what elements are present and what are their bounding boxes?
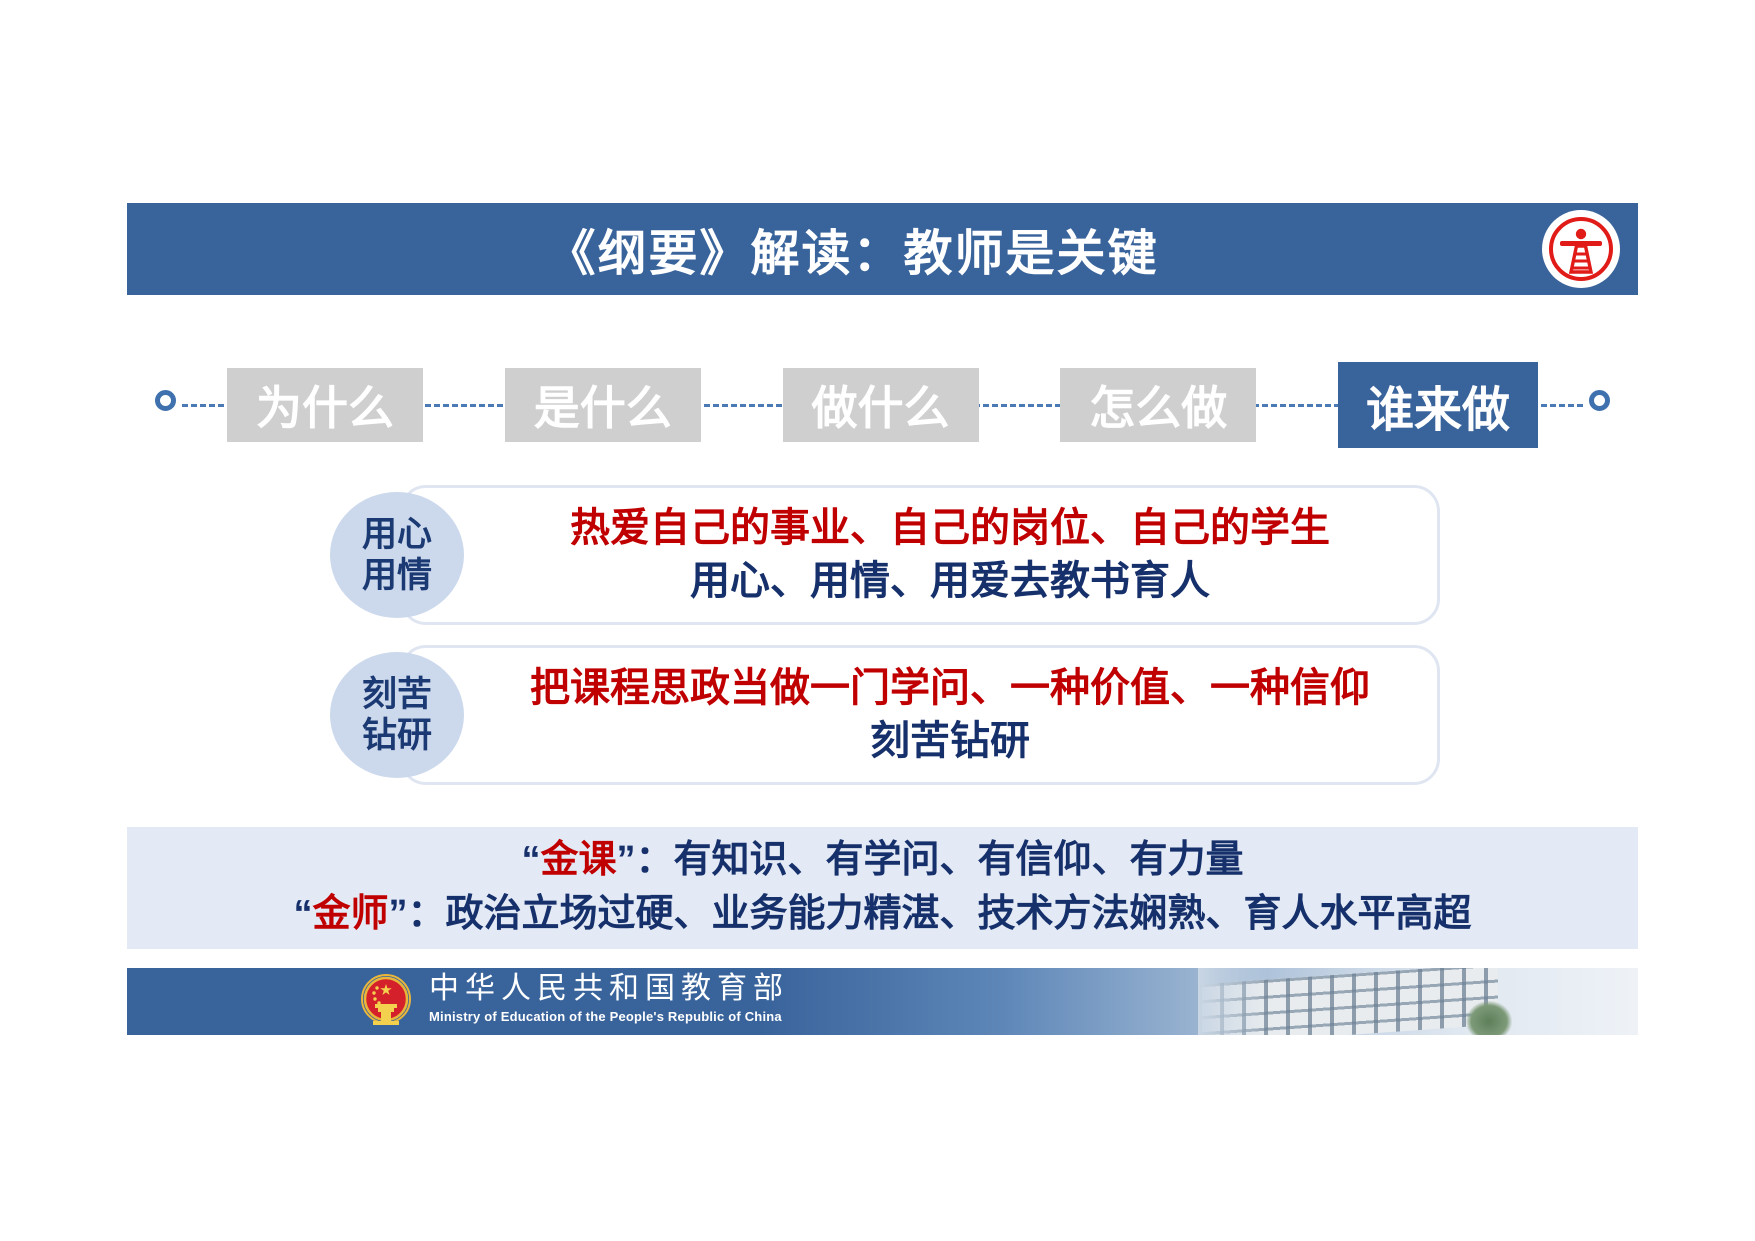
footer-title-en: Ministry of Education of the People's Re… [429, 1009, 789, 1024]
university-emblem-icon [1542, 210, 1620, 288]
stepper-tabs: 为什么 是什么 做什么 怎么做 谁来做 [227, 360, 1538, 450]
summary-line-1-quote-open: “ [521, 839, 540, 881]
tab-zuoshenme[interactable]: 做什么 [783, 368, 979, 442]
content-row-1: 热爱自己的事业、自己的岗位、自己的学生 用心、用情、用爱去教书育人 用心 用情 [330, 485, 1440, 625]
building-tree [1466, 1001, 1512, 1035]
content-line-navy-2: 刻苦钻研 [530, 715, 1370, 768]
ministry-footer-banner: 中华人民共和国教育部 Ministry of Education of the … [127, 968, 1638, 1035]
summary-line-1: “金课”：有知识、有学问、有信仰、有力量 [521, 834, 1243, 888]
summary-line-2-quote-close: ” [389, 893, 408, 935]
content-badge-1: 用心 用情 [330, 492, 464, 618]
content-text-1: 热爱自己的事业、自己的岗位、自己的学生 用心、用情、用爱去教书育人 [570, 502, 1330, 608]
summary-line-2-highlight: 金师 [312, 893, 388, 935]
summary-line-2-rest: ：政治立场过硬、业务能力精湛、技术方法娴熟、育人水平高超 [408, 893, 1472, 935]
content-text-2: 把课程思政当做一门学问、一种价值、一种信仰 刻苦钻研 [530, 662, 1370, 768]
tab-shishenme[interactable]: 是什么 [505, 368, 701, 442]
content-line-red-2: 把课程思政当做一门学问、一种价值、一种信仰 [530, 662, 1370, 715]
building-left-fade [1198, 968, 1268, 1035]
summary-line-1-quote-close: ” [617, 839, 636, 881]
ministry-building-photo [1198, 968, 1518, 1035]
section-stepper: 为什么 是什么 做什么 怎么做 谁来做 [127, 360, 1638, 450]
page-title: 《纲要》解读：教师是关键 [546, 214, 1158, 285]
summary-line-2-quote-open: “ [293, 893, 312, 935]
summary-banner: “金课”：有知识、有学问、有信仰、有力量 “金师”：政治立场过硬、业务能力精湛、… [127, 827, 1638, 949]
content-line-navy-1: 用心、用情、用爱去教书育人 [570, 555, 1330, 608]
national-emblem-icon [357, 972, 415, 1030]
summary-line-2: “金师”：政治立场过硬、业务能力精湛、技术方法娴熟、育人水平高超 [293, 888, 1471, 942]
content-badge-2: 刻苦 钻研 [330, 652, 464, 778]
content-row-2: 把课程思政当做一门学问、一种价值、一种信仰 刻苦钻研 刻苦 钻研 [330, 645, 1440, 785]
slide-title-bar: 《纲要》解读：教师是关键 [127, 203, 1638, 295]
content-badge-2-line2: 钻研 [362, 715, 432, 756]
summary-line-1-highlight: 金课 [540, 839, 616, 881]
slide-canvas: 《纲要》解读：教师是关键 为什么 是什么 做什么 怎么做 谁来做 [0, 0, 1755, 1241]
footer-title-cn: 中华人民共和国教育部 [429, 972, 789, 1007]
content-badge-2-line1: 刻苦 [362, 674, 432, 715]
content-panel-2: 把课程思政当做一门学问、一种价值、一种信仰 刻苦钻研 [400, 645, 1440, 785]
content-badge-1-line1: 用心 [362, 514, 432, 555]
circle-endpoint-icon [1589, 390, 1610, 411]
summary-line-1-rest: ：有知识、有学问、有信仰、有力量 [636, 839, 1244, 881]
content-badge-1-line2: 用情 [362, 555, 432, 596]
content-panel-1: 热爱自己的事业、自己的岗位、自己的学生 用心、用情、用爱去教书育人 [400, 485, 1440, 625]
tab-weishenme[interactable]: 为什么 [227, 368, 423, 442]
circle-endpoint-icon [155, 390, 176, 411]
content-line-red-1: 热爱自己的事业、自己的岗位、自己的学生 [570, 502, 1330, 555]
tab-zenmezuo[interactable]: 怎么做 [1060, 368, 1256, 442]
tab-sheilaizuo[interactable]: 谁来做 [1338, 362, 1538, 448]
footer-title-group: 中华人民共和国教育部 Ministry of Education of the … [429, 972, 789, 1024]
